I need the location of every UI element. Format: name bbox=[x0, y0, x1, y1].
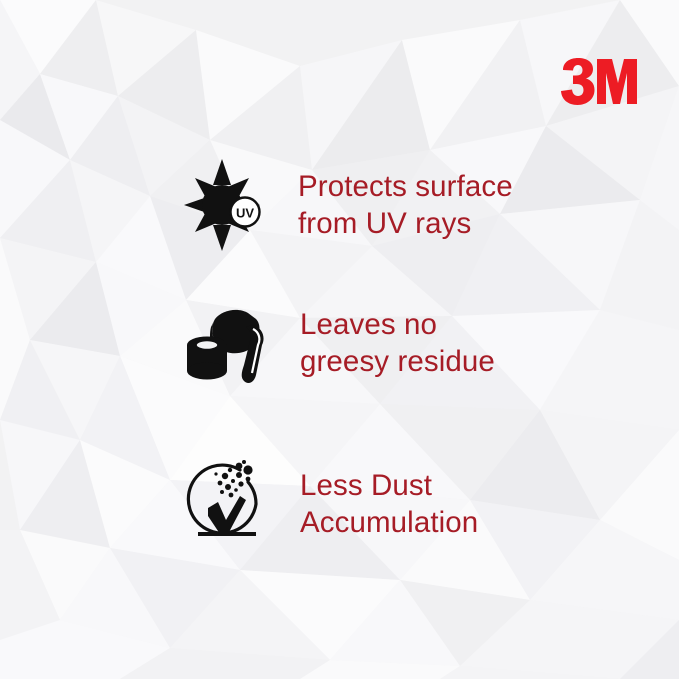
feature-item-residue: Leaves no greesy residue bbox=[182, 295, 602, 391]
uv-badge-label: UV bbox=[236, 206, 254, 221]
dust-check-icon bbox=[182, 456, 274, 552]
feature-item-dust: Less Dust Accumulation bbox=[182, 456, 602, 552]
sun-uv-icon: UV bbox=[182, 157, 274, 253]
feature-list: UV Protects surface from UV rays bbox=[0, 0, 679, 679]
feature-label-dust: Less Dust Accumulation bbox=[300, 467, 478, 541]
feature-label-residue: Leaves no greesy residue bbox=[300, 306, 495, 380]
tape-roll-icon bbox=[182, 295, 274, 391]
product-feature-poster: UV Protects surface from UV rays bbox=[0, 0, 679, 679]
feature-label-uv: Protects surface from UV rays bbox=[298, 168, 513, 242]
feature-item-uv: UV Protects surface from UV rays bbox=[182, 157, 602, 253]
